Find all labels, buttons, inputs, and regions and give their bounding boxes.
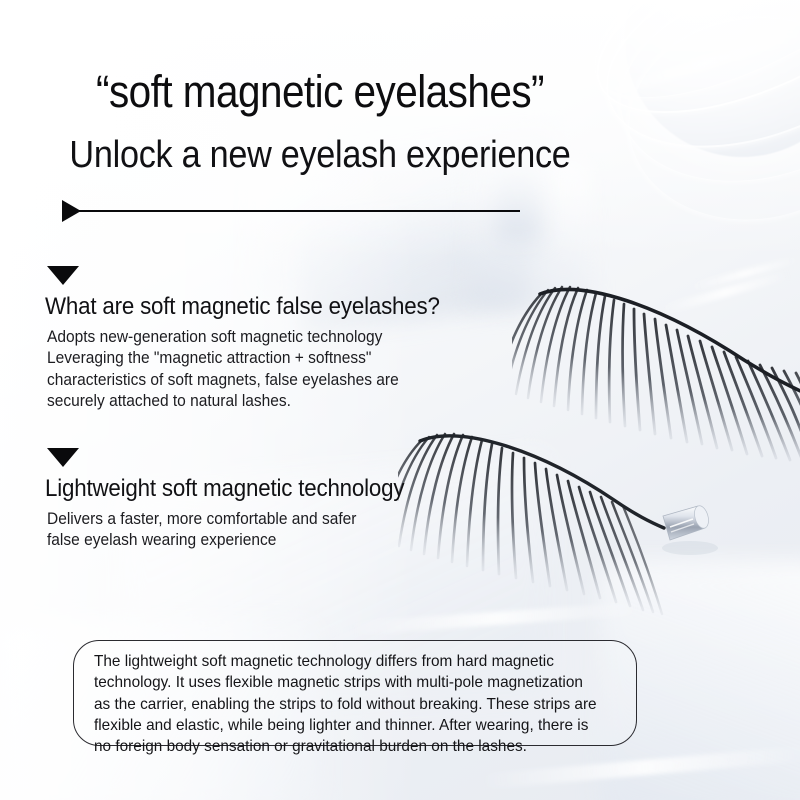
content-overlay: “soft magnetic eyelashes” Unlock a new e…	[0, 0, 800, 800]
callout-box: The lightweight soft magnetic technology…	[73, 640, 637, 746]
triangle-down-icon	[47, 266, 79, 285]
section-body: Delivers a faster, more comfortable and …	[47, 509, 449, 552]
arrow-divider	[62, 200, 522, 224]
section-body: Adopts new-generation soft magnetic tech…	[47, 327, 459, 413]
triangle-down-icon	[47, 448, 79, 467]
section-lightweight-soft-magnetic-technology: Lightweight soft magnetic technology Del…	[45, 448, 475, 552]
callout-text: The lightweight soft magnetic technology…	[94, 651, 609, 757]
page-title-secondary: Unlock a new eyelash experience	[32, 136, 608, 176]
section-what-are-soft-magnetic-lashes: What are soft magnetic false eyelashes? …	[45, 266, 485, 413]
section-title: What are soft magnetic false eyelashes?	[45, 293, 454, 321]
page-title-primary: “soft magnetic eyelashes”	[32, 68, 608, 115]
product-infographic-page: “soft magnetic eyelashes” Unlock a new e…	[0, 0, 800, 800]
section-title: Lightweight soft magnetic technology	[45, 475, 445, 503]
divider-rule	[79, 210, 520, 212]
